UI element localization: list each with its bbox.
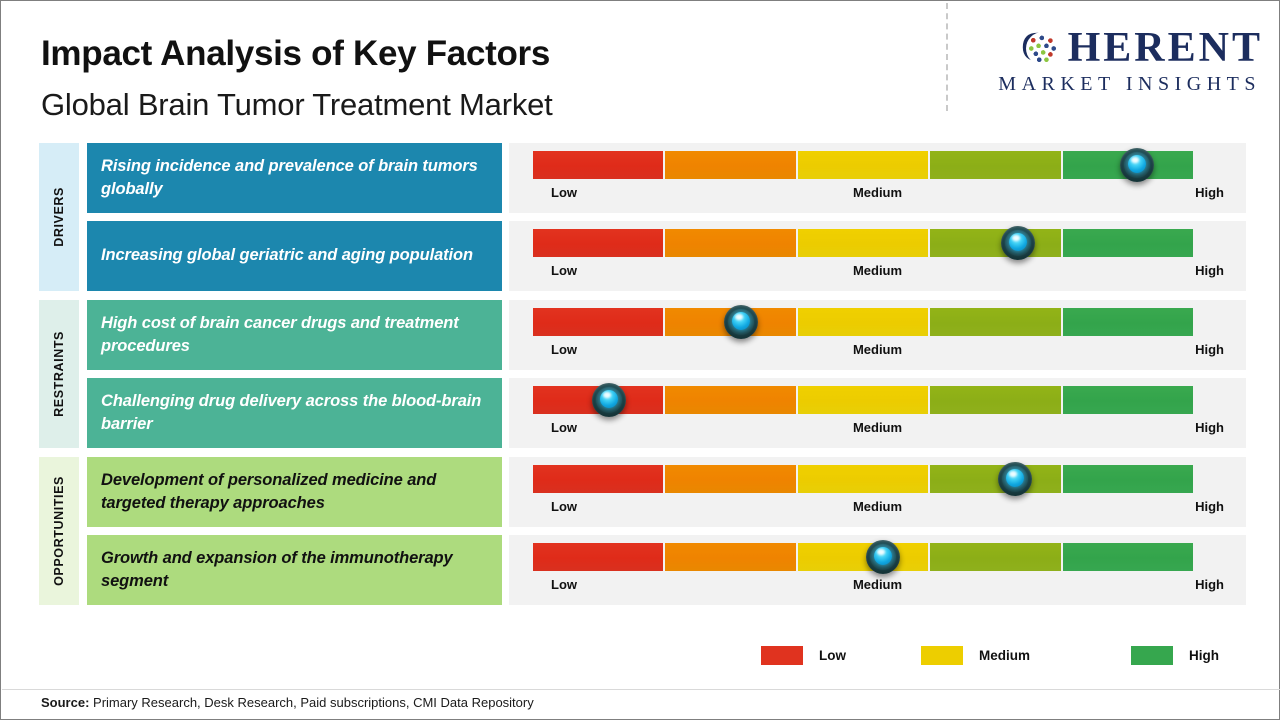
gauge-segment-4 (930, 386, 1060, 414)
gauge-bar (533, 308, 1193, 336)
impact-marker[interactable] (998, 462, 1032, 496)
gauge-segment-5 (1063, 308, 1193, 336)
gauge-bar (533, 386, 1193, 414)
gauge-segment-4 (930, 151, 1060, 179)
factor-box[interactable]: Growth and expansion of the immunotherap… (87, 535, 502, 605)
gauge-segment-3 (798, 386, 928, 414)
company-logo: C HERENT MARKET INSIGHTS (963, 23, 1263, 109)
factor-row: Development of personalized medicine and… (1, 457, 1280, 527)
factor-row: Increasing global geriatric and aging po… (1, 221, 1280, 291)
gauge-segment-5 (1063, 465, 1193, 493)
gauge-segment-4 (930, 465, 1060, 493)
impact-gauge: LowMediumHigh (509, 221, 1246, 291)
gauge-segment-1 (533, 229, 663, 257)
factor-group-drivers: DRIVERSRising incidence and prevalence o… (1, 143, 1280, 291)
gauge-segment-5 (1063, 386, 1193, 414)
factor-group-restraints: RESTRAINTSHigh cost of brain cancer drug… (1, 300, 1280, 448)
logo-secondary-text: MARKET INSIGHTS (963, 73, 1263, 96)
gauge-segment-3 (798, 308, 928, 336)
legend-label: Low (819, 648, 846, 663)
footer-divider (2, 689, 1280, 690)
tick-label-medium: Medium (509, 342, 1246, 357)
marker-highlight (1009, 471, 1017, 477)
gauge-segment-2 (665, 543, 795, 571)
marker-highlight (603, 392, 611, 398)
gauge-segment-3 (798, 229, 928, 257)
impact-marker[interactable] (1120, 148, 1154, 182)
impact-gauge: LowMediumHigh (509, 300, 1246, 370)
factor-row: Challenging drug delivery across the blo… (1, 378, 1280, 448)
header: Impact Analysis of Key Factors Global Br… (1, 1, 1280, 131)
gauge-segment-1 (533, 465, 663, 493)
legend-swatch (761, 646, 803, 665)
impact-marker[interactable] (866, 540, 900, 574)
factor-box[interactable]: Challenging drug delivery across the blo… (87, 378, 502, 448)
gauge-segment-4 (930, 229, 1060, 257)
source-note: Source: Primary Research, Desk Research,… (41, 695, 534, 710)
gauge-segment-1 (533, 543, 663, 571)
dotted-globe-icon (1026, 32, 1059, 65)
gauge-segment-2 (665, 386, 795, 414)
gauge-segment-4 (930, 543, 1060, 571)
gauge-segment-5 (1063, 543, 1193, 571)
impact-marker[interactable] (1001, 226, 1035, 260)
factor-row: Growth and expansion of the immunotherap… (1, 535, 1280, 605)
factor-box[interactable]: Development of personalized medicine and… (87, 457, 502, 527)
factor-row: High cost of brain cancer drugs and trea… (1, 300, 1280, 370)
page-title: Impact Analysis of Key Factors (41, 34, 550, 74)
logo-primary-text: C HERENT (963, 23, 1263, 73)
impact-gauge: LowMediumHigh (509, 143, 1246, 213)
factor-text: Growth and expansion of the immunotherap… (101, 547, 488, 594)
factor-text: Development of personalized medicine and… (101, 469, 488, 516)
gauge-bar (533, 229, 1193, 257)
gauge-segment-2 (665, 151, 795, 179)
factor-rows: DRIVERSRising incidence and prevalence o… (1, 143, 1280, 614)
tick-label-high: High (1195, 577, 1224, 592)
tick-label-medium: Medium (509, 499, 1246, 514)
tick-label-high: High (1195, 263, 1224, 278)
legend-label: High (1189, 648, 1219, 663)
tick-label-high: High (1195, 342, 1224, 357)
source-label: Source: (41, 695, 89, 710)
legend: LowMediumHigh (761, 646, 1201, 670)
gauge-bar (533, 543, 1193, 571)
impact-gauge: LowMediumHigh (509, 378, 1246, 448)
gauge-segment-5 (1063, 229, 1193, 257)
marker-highlight (735, 314, 743, 320)
legend-item-low: Low (761, 646, 846, 665)
factor-box[interactable]: High cost of brain cancer drugs and trea… (87, 300, 502, 370)
tick-label-high: High (1195, 185, 1224, 200)
factor-text: Challenging drug delivery across the blo… (101, 390, 488, 437)
gauge-segment-3 (798, 543, 928, 571)
header-divider (946, 3, 948, 111)
tick-label-medium: Medium (509, 185, 1246, 200)
tick-label-medium: Medium (509, 263, 1246, 278)
legend-swatch (1131, 646, 1173, 665)
impact-marker[interactable] (592, 383, 626, 417)
impact-marker[interactable] (724, 305, 758, 339)
legend-item-high: High (1131, 646, 1219, 665)
gauge-bar (533, 151, 1193, 179)
factor-box[interactable]: Rising incidence and prevalence of brain… (87, 143, 502, 213)
gauge-segment-2 (665, 229, 795, 257)
gauge-segment-4 (930, 308, 1060, 336)
impact-gauge: LowMediumHigh (509, 457, 1246, 527)
tick-label-high: High (1195, 420, 1224, 435)
legend-label: Medium (979, 648, 1030, 663)
factor-row: Rising incidence and prevalence of brain… (1, 143, 1280, 213)
tick-label-high: High (1195, 499, 1224, 514)
legend-swatch (921, 646, 963, 665)
gauge-segment-3 (798, 151, 928, 179)
factor-box[interactable]: Increasing global geriatric and aging po… (87, 221, 502, 291)
gauge-segment-2 (665, 465, 795, 493)
tick-label-medium: Medium (509, 577, 1246, 592)
marker-highlight (1131, 157, 1139, 163)
marker-highlight (877, 549, 885, 555)
impact-gauge: LowMediumHigh (509, 535, 1246, 605)
tick-label-medium: Medium (509, 420, 1246, 435)
gauge-segment-1 (533, 151, 663, 179)
source-text: Primary Research, Desk Research, Paid su… (89, 695, 533, 710)
factor-text: Increasing global geriatric and aging po… (101, 244, 473, 267)
legend-item-medium: Medium (921, 646, 1030, 665)
infographic-slide: Impact Analysis of Key Factors Global Br… (0, 0, 1280, 720)
factor-text: Rising incidence and prevalence of brain… (101, 155, 488, 202)
gauge-segment-1 (533, 308, 663, 336)
factor-group-opportunities: OPPORTUNITIESDevelopment of personalized… (1, 457, 1280, 605)
page-subtitle: Global Brain Tumor Treatment Market (41, 87, 553, 123)
gauge-segment-3 (798, 465, 928, 493)
factor-text: High cost of brain cancer drugs and trea… (101, 312, 488, 359)
gauge-bar (533, 465, 1193, 493)
marker-highlight (1012, 235, 1020, 241)
